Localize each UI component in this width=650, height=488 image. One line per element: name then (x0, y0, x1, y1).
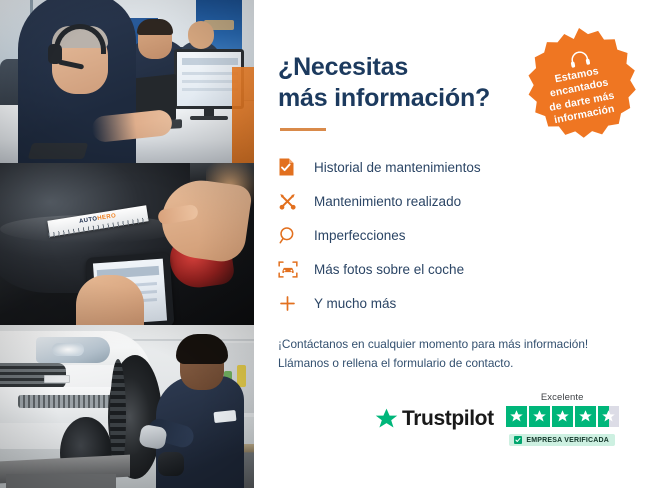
feature-item-maintenance-history: Historial de mantenimientos (278, 151, 650, 183)
monitor-ui-row (182, 88, 238, 91)
second-agent-hair (137, 19, 173, 35)
mechanic-name-badge (213, 410, 236, 423)
feature-label: Mantenimiento realizado (314, 194, 461, 209)
car-inspection-ruler-photo: AUTOHERO (0, 163, 254, 325)
information-cta-card: AUTOHERO (0, 0, 650, 488)
contact-line-1: ¡Contáctanos en cualquier momento para m… (278, 337, 588, 351)
trustpilot-star-icon (374, 407, 399, 431)
badge-content: Estamos encantados de darte más informac… (510, 18, 648, 156)
photo-column: AUTOHERO (0, 0, 254, 488)
mechanic-hair (176, 334, 228, 364)
feature-item-imperfections: Imperfecciones (278, 219, 650, 251)
feature-label: Más fotos sobre el coche (314, 262, 464, 277)
feature-label: Y mucho más (314, 296, 396, 311)
car-headlamp-lens (52, 343, 84, 356)
monitor-ui-bar (182, 58, 238, 65)
feature-item-more-photos: Más fotos sobre el coche (278, 253, 650, 285)
headline-line-2: más información? (278, 84, 490, 112)
contact-line-2: Llámanos o rellena el formulario de cont… (278, 356, 513, 370)
monitor-ui-row (182, 80, 238, 83)
call-center-agents-photo (0, 0, 254, 163)
mechanic-glove-dark (158, 452, 184, 476)
star-filled (529, 406, 550, 427)
trustpilot-wordmark: Trustpilot (402, 407, 494, 431)
rating-label: Excelente (541, 392, 584, 403)
car-plate-holder (44, 375, 70, 383)
trustpilot-logo: Trustpilot (374, 407, 494, 431)
car-lower-vent (18, 395, 122, 408)
inspector-hand-holding-tablet (76, 275, 144, 325)
mechanic-wheel-photo (0, 325, 254, 488)
badge-text: Estamos encantados de darte más informac… (537, 62, 624, 130)
star-half (598, 406, 619, 427)
page-title: ¿Necesitas más información? (278, 52, 508, 113)
tools-cross-icon (278, 189, 308, 213)
headline-line-1: ¿Necesitas (278, 53, 408, 81)
star-filled (552, 406, 573, 427)
mechanic-glove-light (138, 424, 167, 450)
monitor-base (190, 116, 228, 120)
background-colleague-head (188, 21, 214, 49)
star-filled (575, 406, 596, 427)
title-divider (280, 128, 326, 131)
feature-item-much-more: Y mucho más (278, 287, 650, 319)
feature-label: Imperfecciones (314, 228, 406, 243)
magnifier-icon (278, 223, 308, 247)
promo-badge: Estamos encantados de darte más informac… (520, 28, 638, 146)
plus-icon (278, 291, 308, 315)
trustpilot-rating: Excelente EMPRESA VERIFICADA (506, 392, 619, 446)
trustpilot-widget[interactable]: Trustpilot Excelente EMPRESA VERIFICADA (374, 392, 619, 446)
desk-tablet (28, 143, 89, 159)
car-scan-icon (278, 257, 308, 281)
content-panel: ¿Necesitas más información? Historial de… (254, 0, 650, 488)
monitor-ui-row (182, 72, 238, 75)
feature-list: Historial de mantenimientos M (278, 151, 650, 319)
contact-text: ¡Contáctanos en cualquier momento para m… (278, 335, 650, 373)
verified-company-badge: EMPRESA VERIFICADA (509, 434, 615, 446)
verified-label: EMPRESA VERIFICADA (526, 437, 609, 444)
feature-label: Historial de mantenimientos (314, 160, 481, 175)
star-filled (506, 406, 527, 427)
check-icon (514, 436, 522, 444)
document-check-icon (278, 155, 308, 179)
feature-item-maintenance-done: Mantenimiento realizado (278, 185, 650, 217)
car-lift-base (6, 474, 116, 488)
orange-equipment (232, 67, 254, 163)
star-rating (506, 406, 619, 427)
